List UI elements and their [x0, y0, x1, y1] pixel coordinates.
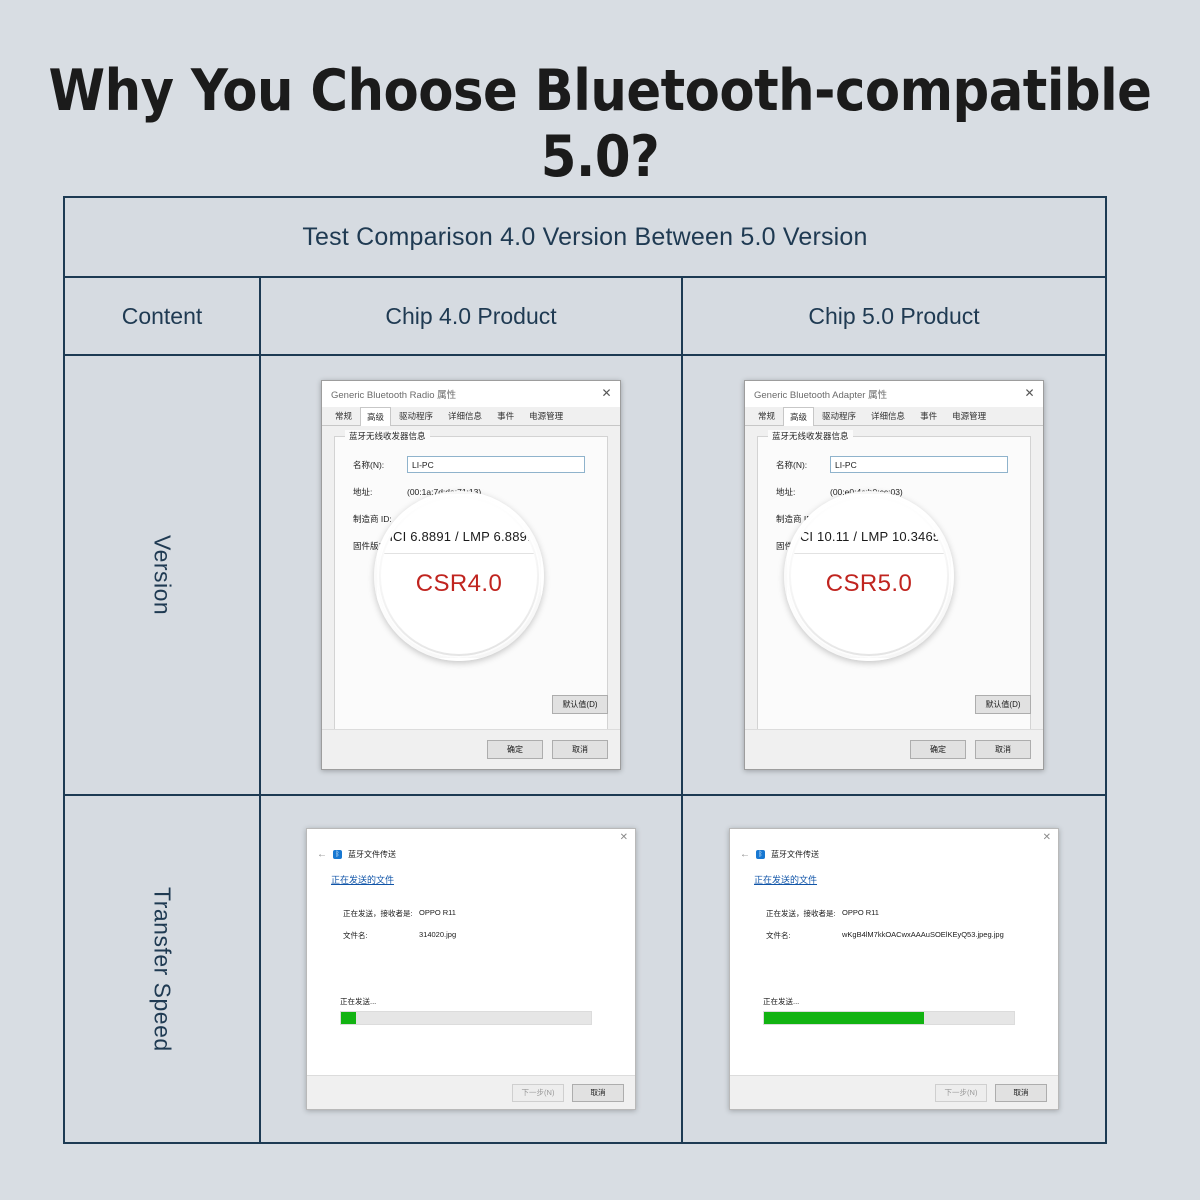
- transceiver-info-group: 蓝牙无线收发器信息 名称(N): LI-PC 地址: (00:1a:7d:da:…: [334, 436, 608, 736]
- tab-events[interactable]: 事件: [490, 406, 521, 425]
- window-titlebar: Generic Bluetooth Radio 属性 ✕: [322, 381, 620, 407]
- next-button: 下一步(N): [935, 1084, 987, 1102]
- field-manufacturer-row: 制造商 ID: 10: [345, 505, 597, 532]
- field-name-row: 名称(N): LI-PC: [345, 451, 597, 478]
- window-header: ← ᛒ 蓝牙文件传送: [730, 847, 1058, 860]
- transfer-fields: 正在发送，接收者是: OPPO R11 文件名: wKgB4lM7kkOACwx…: [766, 908, 1058, 952]
- cancel-button[interactable]: 取消: [995, 1084, 1047, 1102]
- header-content: Content: [65, 278, 259, 354]
- field-address-label: 地址:: [345, 486, 407, 498]
- field-manufacturer-label: 制造商 ID:: [768, 513, 830, 525]
- window-body: 蓝牙无线收发器信息 名称(N): LI-PC 地址: (00:1a:7d:da:…: [322, 426, 620, 768]
- default-button[interactable]: 默认值(D): [552, 695, 608, 714]
- name-input[interactable]: LI-PC: [407, 456, 585, 473]
- window-footer: 下一步(N) 取消: [307, 1075, 635, 1109]
- filename-row: 文件名: wKgB4lM7kkOACwxAAAuSOElKEyQ53.jpeg.…: [766, 930, 1058, 952]
- app-title: 蓝牙文件传送: [348, 849, 396, 860]
- name-input[interactable]: LI-PC: [830, 456, 1008, 473]
- cancel-button[interactable]: 取消: [572, 1084, 624, 1102]
- progress-bar-track: [763, 1011, 1015, 1025]
- field-address-label: 地址:: [768, 486, 830, 498]
- chip-50-version-cell: Generic Bluetooth Adapter 属性 ✕ 常规 高级 驱动程…: [681, 356, 1105, 794]
- tab-advanced[interactable]: 高级: [360, 407, 391, 426]
- progress-bar-track: [340, 1011, 592, 1025]
- progress-bar-fill: [764, 1012, 924, 1024]
- tab-advanced[interactable]: 高级: [783, 407, 814, 426]
- back-arrow-icon[interactable]: ←: [317, 849, 327, 860]
- close-icon[interactable]: ✕: [1024, 388, 1035, 399]
- ok-button[interactable]: 确定: [487, 740, 543, 759]
- progress-caption: 正在发送...: [763, 996, 1015, 1007]
- chip-40-transfer-cell: ✕ ← ᛒ 蓝牙文件传送 正在发送的文件 正在发送，接收者是: OPPO R11: [259, 796, 681, 1142]
- field-address-value: (00:1a:7d:da:71:13): [407, 487, 481, 497]
- window-title-text: Generic Bluetooth Adapter 属性: [754, 387, 887, 401]
- window-titlebar: Generic Bluetooth Adapter 属性 ✕: [745, 381, 1043, 407]
- field-manufacturer-label: 制造商 ID:: [345, 513, 407, 525]
- tab-details[interactable]: 详细信息: [441, 406, 489, 425]
- bluetooth-radio-properties-window: Generic Bluetooth Radio 属性 ✕ 常规 高级 驱动程序 …: [321, 380, 621, 770]
- tab-power[interactable]: 电源管理: [522, 406, 570, 425]
- recipient-value: OPPO R11: [842, 908, 879, 917]
- window-body: 蓝牙无线收发器信息 名称(N): LI-PC 地址: (00:e0:4c:b0:…: [745, 426, 1043, 768]
- field-firmware-label: 固件版本:: [768, 540, 830, 552]
- field-address-value: (00:e0:4c:b0:cc:03): [830, 487, 903, 497]
- cancel-button[interactable]: 取消: [552, 740, 608, 759]
- comparison-table: Test Comparison 4.0 Version Between 5.0 …: [63, 196, 1107, 1144]
- bluetooth-transfer-window-50: ✕ ← ᛒ 蓝牙文件传送 正在发送的文件 正在发送，接收者是: OPPO R11: [729, 828, 1059, 1110]
- back-arrow-icon[interactable]: ←: [740, 849, 750, 860]
- window-titlebar: ✕: [307, 829, 635, 847]
- window-footer: 确定 取消: [322, 729, 620, 769]
- row-label-transfer-cell: Transfer Speed: [65, 796, 259, 1142]
- default-button-row: 默认值(D): [552, 695, 608, 714]
- progress-caption: 正在发送...: [340, 996, 592, 1007]
- progress-bar-fill: [341, 1012, 356, 1024]
- cancel-button[interactable]: 取消: [975, 740, 1031, 759]
- table-header-row: Content Chip 4.0 Product Chip 5.0 Produc…: [65, 278, 1105, 356]
- filename-value: wKgB4lM7kkOACwxAAAuSOElKEyQ53.jpeg.jpg: [842, 930, 1004, 939]
- tab-strip: 常规 高级 驱动程序 详细信息 事件 电源管理: [322, 407, 620, 426]
- field-manufacturer-row: 制造商 ID: 93: [768, 505, 1020, 532]
- tab-general[interactable]: 常规: [328, 406, 359, 425]
- page-title: Why You Choose Bluetooth-compatible 5.0?: [0, 58, 1200, 190]
- recipient-row: 正在发送，接收者是: OPPO R11: [766, 908, 1058, 930]
- close-icon[interactable]: ✕: [620, 832, 628, 843]
- field-manufacturer-value: 93: [830, 514, 861, 524]
- next-button: 下一步(N): [512, 1084, 564, 1102]
- filename-label: 文件名:: [766, 930, 842, 941]
- window-header: ← ᛒ 蓝牙文件传送: [307, 847, 635, 860]
- field-manufacturer-value: 10: [407, 514, 438, 524]
- window-footer: 确定 取消: [745, 729, 1043, 769]
- tab-driver[interactable]: 驱动程序: [392, 406, 440, 425]
- row-label-version: Version: [149, 535, 176, 615]
- group-legend: 蓝牙无线收发器信息: [768, 430, 853, 442]
- group-legend: 蓝牙无线收发器信息: [345, 430, 430, 442]
- tab-details[interactable]: 详细信息: [864, 406, 912, 425]
- table-row: Transfer Speed ✕ ← ᛒ 蓝牙文件传送 正在发送的文件: [65, 796, 1105, 1142]
- field-firmware-row: 固件版本:: [345, 532, 597, 559]
- bluetooth-icon: ᛒ: [756, 850, 765, 859]
- recipient-label: 正在发送，接收者是:: [766, 908, 842, 919]
- transfer-fields: 正在发送，接收者是: OPPO R11 文件名: 314020.jpg: [343, 908, 635, 952]
- progress-area: 正在发送...: [763, 996, 1015, 1025]
- ok-button[interactable]: 确定: [910, 740, 966, 759]
- progress-area: 正在发送...: [340, 996, 592, 1025]
- bluetooth-transfer-window-40: ✕ ← ᛒ 蓝牙文件传送 正在发送的文件 正在发送，接收者是: OPPO R11: [306, 828, 636, 1110]
- table-title: Test Comparison 4.0 Version Between 5.0 …: [65, 198, 1105, 278]
- default-button[interactable]: 默认值(D): [975, 695, 1031, 714]
- tab-general[interactable]: 常规: [751, 406, 782, 425]
- bluetooth-adapter-properties-window: Generic Bluetooth Adapter 属性 ✕ 常规 高级 驱动程…: [744, 380, 1044, 770]
- tab-strip: 常规 高级 驱动程序 详细信息 事件 电源管理: [745, 407, 1043, 426]
- filename-label: 文件名:: [343, 930, 419, 941]
- window-footer: 下一步(N) 取消: [730, 1075, 1058, 1109]
- row-label-version-cell: Version: [65, 356, 259, 794]
- tab-events[interactable]: 事件: [913, 406, 944, 425]
- field-name-row: 名称(N): LI-PC: [768, 451, 1020, 478]
- poster-canvas: Why You Choose Bluetooth-compatible 5.0?…: [0, 0, 1200, 1200]
- recipient-value: OPPO R11: [419, 908, 456, 917]
- filename-row: 文件名: 314020.jpg: [343, 930, 635, 952]
- transceiver-info-group: 蓝牙无线收发器信息 名称(N): LI-PC 地址: (00:e0:4c:b0:…: [757, 436, 1031, 736]
- sending-files-link[interactable]: 正在发送的文件: [331, 873, 394, 886]
- chip-40-version-cell: Generic Bluetooth Radio 属性 ✕ 常规 高级 驱动程序 …: [259, 356, 681, 794]
- sending-files-link[interactable]: 正在发送的文件: [754, 873, 817, 886]
- header-chip-5-0: Chip 5.0 Product: [681, 278, 1105, 354]
- window-titlebar: ✕: [730, 829, 1058, 847]
- close-icon[interactable]: ✕: [1043, 832, 1051, 843]
- chip-50-transfer-cell: ✕ ← ᛒ 蓝牙文件传送 正在发送的文件 正在发送，接收者是: OPPO R11: [681, 796, 1105, 1142]
- app-title: 蓝牙文件传送: [771, 849, 819, 860]
- field-name-label: 名称(N):: [768, 459, 830, 471]
- default-button-row: 默认值(D): [975, 695, 1031, 714]
- bluetooth-icon: ᛒ: [333, 850, 342, 859]
- recipient-row: 正在发送，接收者是: OPPO R11: [343, 908, 635, 930]
- field-firmware-row: 固件版本:: [768, 532, 1020, 559]
- tab-driver[interactable]: 驱动程序: [815, 406, 863, 425]
- field-name-label: 名称(N):: [345, 459, 407, 471]
- field-firmware-label: 固件版本:: [345, 540, 407, 552]
- close-icon[interactable]: ✕: [601, 388, 612, 399]
- window-title-text: Generic Bluetooth Radio 属性: [331, 387, 456, 401]
- field-address-row: 地址: (00:e0:4c:b0:cc:03): [768, 478, 1020, 505]
- filename-value: 314020.jpg: [419, 930, 456, 939]
- row-label-transfer-speed: Transfer Speed: [149, 887, 176, 1052]
- recipient-label: 正在发送，接收者是:: [343, 908, 419, 919]
- header-chip-4-0: Chip 4.0 Product: [259, 278, 681, 354]
- field-address-row: 地址: (00:1a:7d:da:71:13): [345, 478, 597, 505]
- tab-power[interactable]: 电源管理: [945, 406, 993, 425]
- table-row: Version Generic Bluetooth Radio 属性 ✕ 常规 …: [65, 356, 1105, 796]
